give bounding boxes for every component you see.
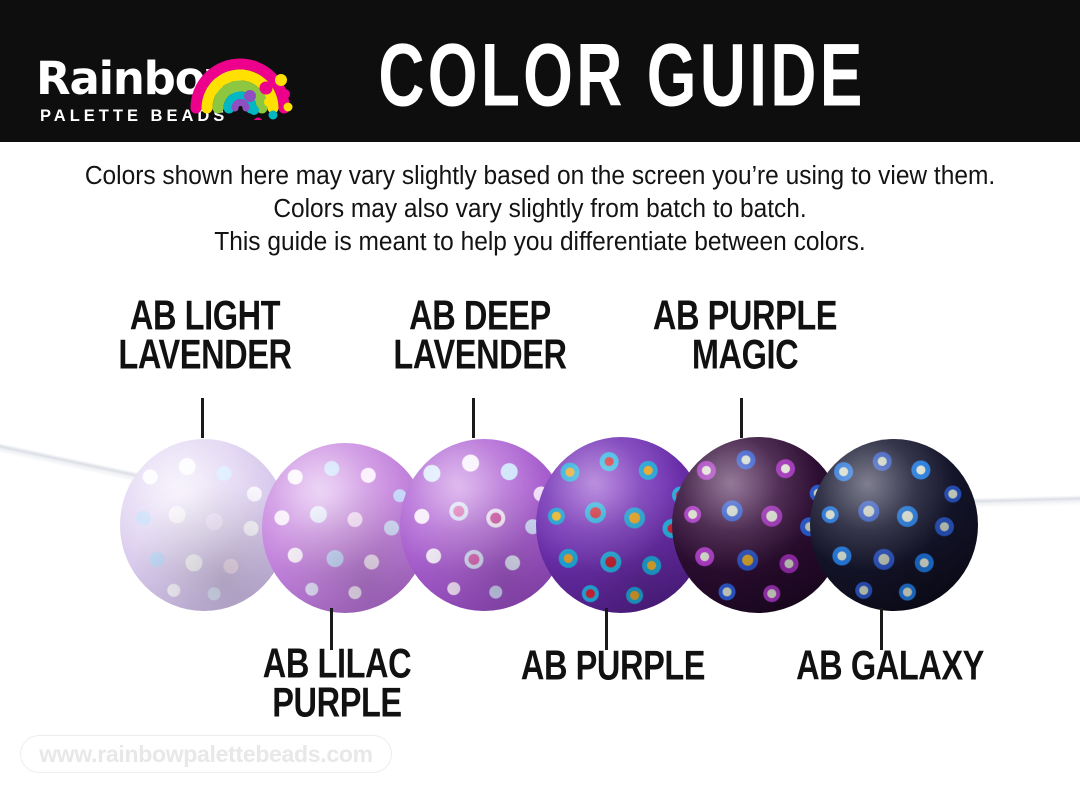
- disclaimer-line-2: Colors may also vary slightly from batch…: [22, 193, 1059, 226]
- watermark-badge: www.rainbowpalettebeads.com: [20, 735, 392, 773]
- label-ab-deep-lavender: AB DEEPLAVENDER: [352, 296, 607, 374]
- disclaimer-line-3: This guide is meant to help you differen…: [22, 226, 1059, 259]
- label-ab-purple-magic: AB PURPLEMAGIC: [617, 296, 872, 374]
- disclaimer-text: Colors shown here may vary slightly base…: [22, 160, 1059, 259]
- watermark-text: www.rainbowpalettebeads.com: [39, 741, 373, 768]
- page-title: COLOR GUIDE: [97, 20, 983, 131]
- label-ab-lilac-purple: AB LILACPURPLE: [209, 644, 464, 722]
- bead-ab-galaxy: [810, 439, 978, 611]
- bead-strand: [0, 415, 1080, 630]
- header-bar: Rainbow PALETTE BEADS: [0, 0, 1080, 142]
- label-ab-purple: AB PURPLE: [485, 646, 740, 685]
- label-ab-light-lavender: AB LIGHTLAVENDER: [77, 296, 332, 374]
- color-guide-page: Rainbow PALETTE BEADS: [0, 0, 1080, 788]
- label-ab-galaxy: AB GALAXY: [762, 646, 1017, 685]
- disclaimer-line-1: Colors shown here may vary slightly base…: [22, 160, 1059, 193]
